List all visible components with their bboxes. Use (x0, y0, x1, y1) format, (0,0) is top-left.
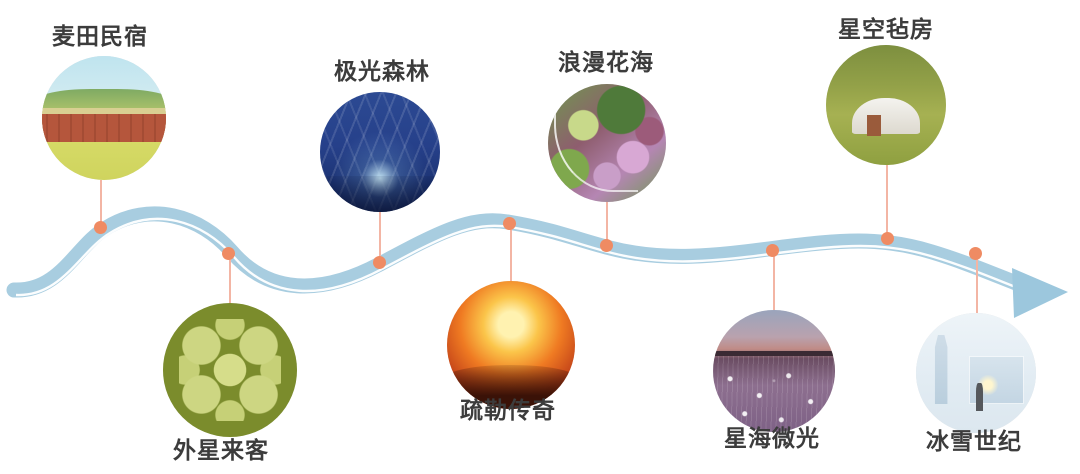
aurora-forest-image (320, 92, 440, 212)
node-label: 极光森林 (334, 61, 430, 84)
node-label: 星空毡房 (838, 19, 934, 42)
timeline-node-dot[interactable] (969, 247, 982, 260)
node-label: 麦田民宿 (52, 26, 148, 49)
connector-line (886, 165, 888, 241)
node-image-bubble[interactable] (447, 281, 575, 409)
timeline-node-dot[interactable] (881, 232, 894, 245)
timeline-node-dot[interactable] (766, 244, 779, 257)
infographic-canvas: 麦田民宿 外星来客 极光森林 疏勒传奇 浪漫花海 (0, 0, 1080, 474)
node-image-bubble[interactable] (163, 303, 297, 437)
timeline-node-dot[interactable] (503, 217, 516, 230)
node-image-bubble[interactable] (548, 84, 666, 202)
timeline-node-dot[interactable] (600, 239, 613, 252)
flower-sea-aerial-image (548, 84, 666, 202)
node-image-bubble[interactable] (826, 45, 946, 165)
desert-sunset-riders-image (447, 281, 575, 409)
node-label: 冰雪世纪 (926, 431, 1022, 454)
node-image-bubble[interactable] (320, 92, 440, 212)
timeline-node-dot[interactable] (373, 256, 386, 269)
node-label: 外星来客 (173, 440, 269, 463)
connector-line (229, 255, 231, 305)
node-label: 星海微光 (724, 428, 820, 451)
ribbon-arrowhead-icon (1012, 268, 1068, 318)
connector-line (773, 252, 775, 312)
yurt-grassland-image (826, 45, 946, 165)
wheat-field-guesthouse-image (42, 56, 166, 180)
crop-circle-image (163, 303, 297, 437)
node-image-bubble[interactable] (713, 310, 835, 432)
timeline-node-dot[interactable] (222, 247, 235, 260)
node-label: 疏勒传奇 (460, 400, 556, 423)
node-image-bubble[interactable] (916, 313, 1036, 433)
node-image-bubble[interactable] (42, 56, 166, 180)
timeline-node-dot[interactable] (94, 221, 107, 234)
connector-line (510, 226, 512, 284)
frozen-city-image (916, 313, 1036, 433)
connector-line (976, 256, 978, 314)
glowing-field-dusk-image (713, 310, 835, 432)
node-label: 浪漫花海 (558, 52, 654, 75)
frozen-city-figure (976, 383, 983, 412)
